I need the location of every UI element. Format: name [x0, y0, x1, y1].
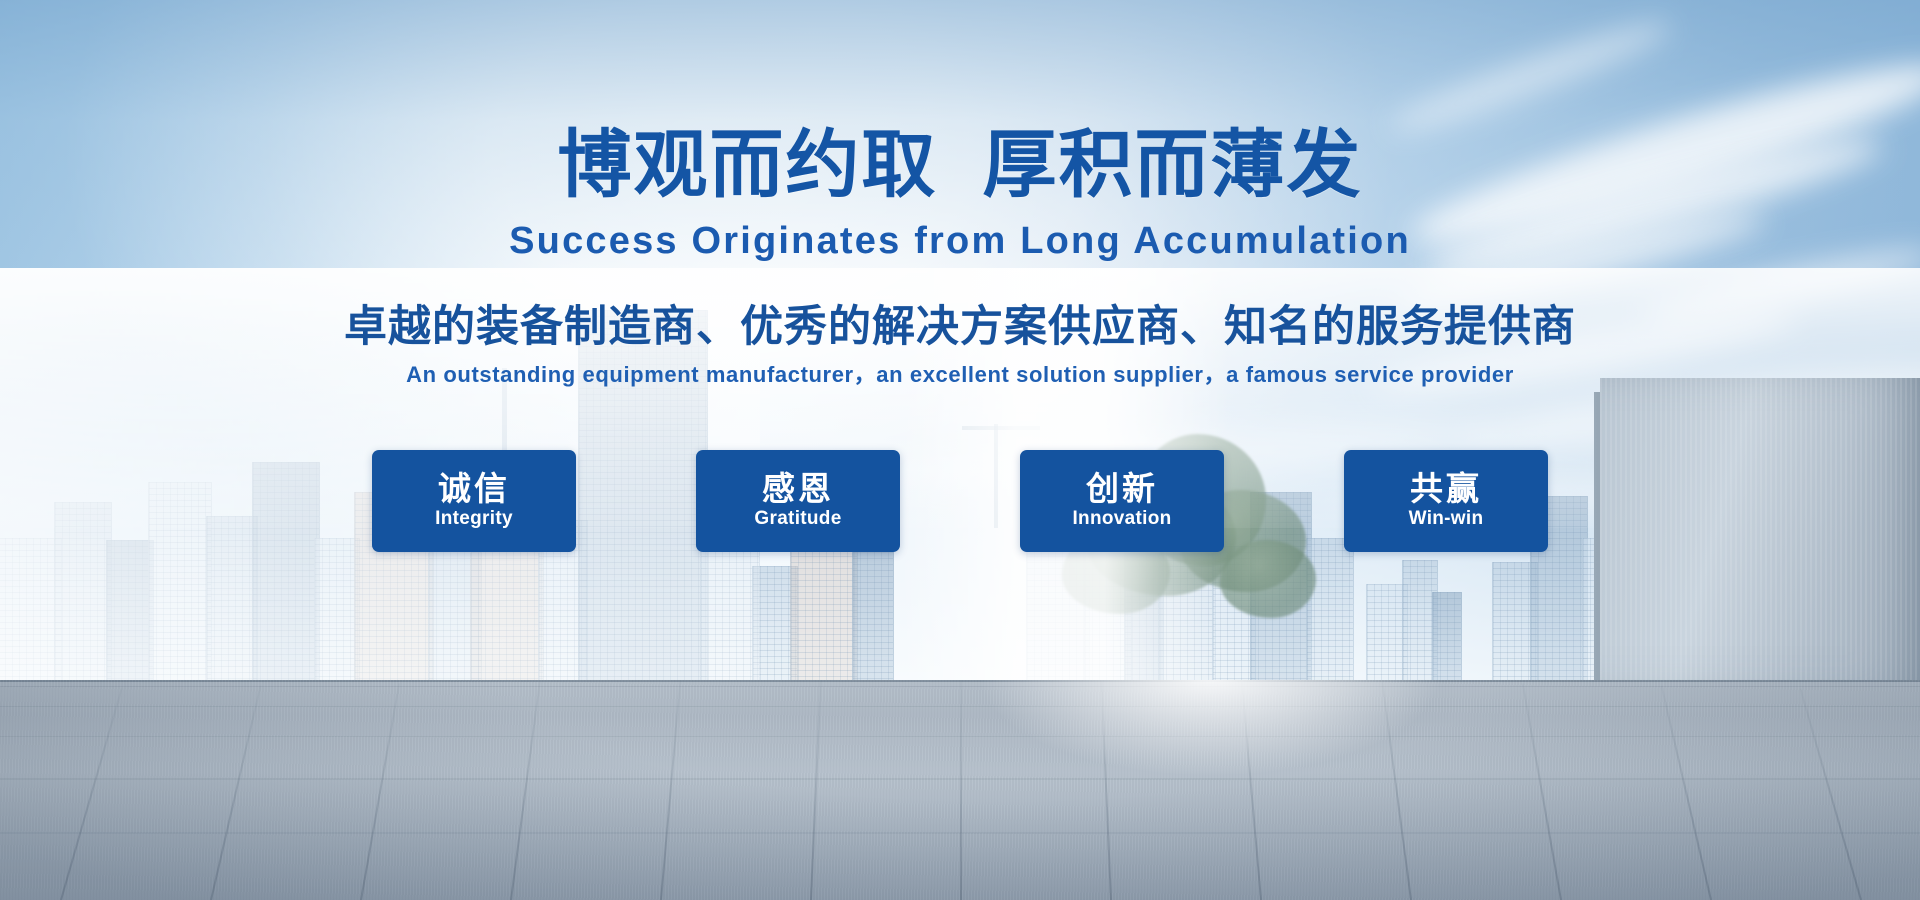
value-card-winwin[interactable]: 共赢 Win-win	[1344, 450, 1548, 552]
value-label-cn: 感恩	[762, 471, 834, 507]
value-label-cn: 诚信	[438, 471, 510, 507]
value-card-integrity[interactable]: 诚信 Integrity	[372, 450, 576, 552]
headline-english: Success Originates from Long Accumulatio…	[0, 222, 1920, 260]
value-label-cn: 创新	[1086, 471, 1158, 507]
core-values-list: 诚信 Integrity 感恩 Gratitude 创新 Innovation …	[0, 450, 1920, 552]
value-label-en: Integrity	[435, 507, 513, 531]
value-card-gratitude[interactable]: 感恩 Gratitude	[696, 450, 900, 552]
subtitle-english: An outstanding equipment manufacturer，an…	[0, 364, 1920, 386]
headline-chinese: 博观而约取 厚积而薄发	[0, 128, 1920, 202]
value-label-en: Gratitude	[754, 507, 841, 531]
hero-banner: 博观而约取 厚积而薄发 Success Originates from Long…	[0, 0, 1920, 900]
value-card-innovation[interactable]: 创新 Innovation	[1020, 450, 1224, 552]
subtitle-chinese: 卓越的装备制造商、优秀的解决方案供应商、知名的服务提供商	[0, 306, 1920, 349]
banner-content: 博观而约取 厚积而薄发 Success Originates from Long…	[0, 0, 1920, 900]
value-label-en: Win-win	[1409, 507, 1484, 531]
value-label-en: Innovation	[1072, 507, 1171, 531]
value-label-cn: 共赢	[1410, 471, 1482, 507]
